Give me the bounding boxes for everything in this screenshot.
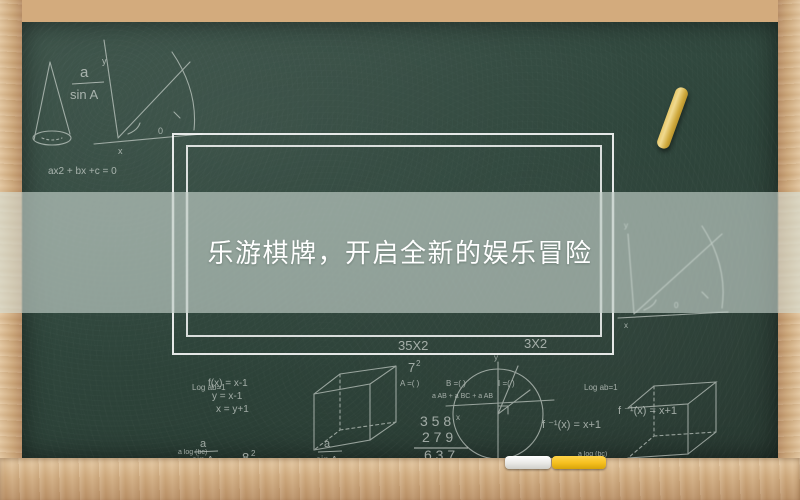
chalk-log-bc-left: a log (bc)	[178, 449, 207, 456]
chalk-axis-x-mid: x	[624, 321, 628, 330]
chalk-fraction-numerator: a	[80, 64, 89, 81]
white-chalk-stick	[505, 456, 551, 469]
circle-diagram	[446, 362, 554, 458]
chalk-subtraction-difference: 6 3 7	[424, 447, 455, 458]
chalk-matrix-a: A =( )	[400, 379, 420, 388]
page-title: 乐游棋牌，开启全新的娱乐冒险	[207, 240, 592, 266]
chalk-matrix-i: I =( )	[498, 379, 515, 388]
angle-diagram-left	[94, 40, 202, 144]
wood-frame-top	[0, 0, 800, 22]
chalk-fx-line3: x = y+1	[216, 404, 249, 415]
banner-overlay-band: 乐游棋牌，开启全新的娱乐冒险	[0, 192, 800, 313]
chalk-fraction-denominator: sin A	[70, 87, 99, 102]
chalk-fraction3-numerator: a	[324, 438, 331, 450]
chalk-log-ab-2: Log ab=1	[584, 383, 618, 392]
chalk-subtraction-minuend: 3 5 8	[420, 413, 451, 429]
chalk-log-ab: Log ab=1	[192, 383, 226, 392]
chalk-quadratic-equation: ax2 + bx +c = 0	[48, 166, 117, 177]
yellow-chalk-stick	[552, 456, 606, 469]
chalk-triangle-terms: a AB + a BC + a AB	[432, 393, 493, 400]
chalk-axis-x-br: x	[456, 413, 460, 422]
chalk-seven-exponent: 2	[416, 359, 421, 368]
chalk-inverse-fx: f ⁻¹(x) = x+1	[542, 419, 601, 431]
chalk-subtraction-subtrahend: 2 7 9	[422, 429, 453, 445]
cube-drawing-right	[628, 382, 716, 458]
cone-drawing	[33, 62, 71, 145]
chalk-angle-left: 0	[158, 126, 163, 136]
chalk-seven: 7	[408, 360, 415, 375]
chalk-fx-line2: y = x-1	[212, 391, 243, 402]
chalk-inverse-fx-right: f ⁻¹(x) = x+1	[618, 405, 677, 417]
chalkboard-banner-image: a sin A y x 0 ax2 + bx +c = 0 y x 0 f(x)…	[0, 0, 800, 500]
chalk-eight-exponent: 2	[251, 449, 256, 458]
wood-chalk-ledge	[0, 458, 800, 500]
chalk-axis-x-left: x	[118, 146, 123, 156]
chalk-matrix-b: B =( )	[446, 379, 466, 388]
chalk-axis-y-left: y	[102, 56, 107, 66]
chalk-eight: 8	[242, 450, 249, 458]
